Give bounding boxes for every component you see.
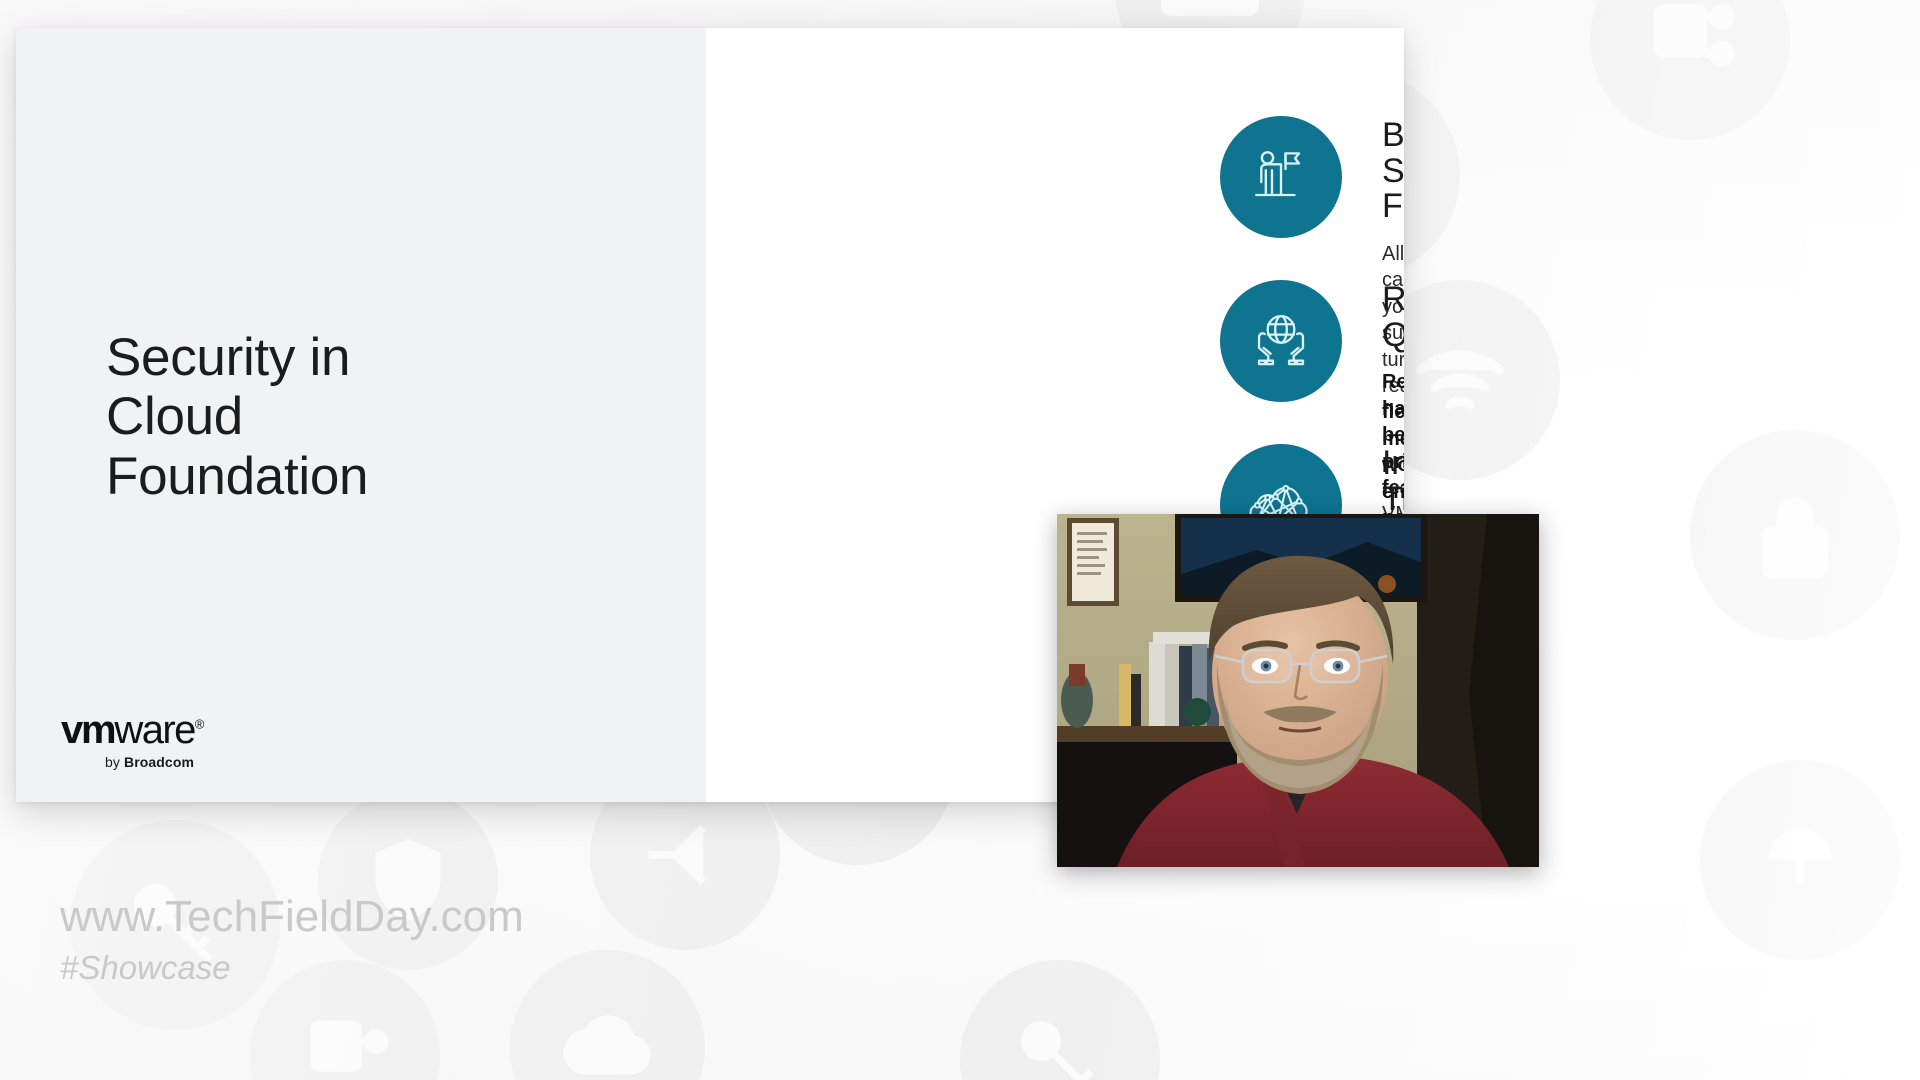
hands-holding-globe-icon — [1244, 304, 1318, 378]
watermark-circle-chip-top — [1590, 0, 1790, 140]
lock-icon — [1736, 476, 1854, 594]
presenter-webcam-video[interactable] — [1057, 514, 1539, 867]
vmware-byline-brand: Broadcom — [124, 754, 194, 770]
watermark-circle-fingerprint-right — [1700, 760, 1900, 960]
registered-trademark-icon: ® — [195, 717, 205, 732]
cloud-icon — [553, 993, 663, 1080]
watermark-circle-key-bottom-right — [960, 960, 1160, 1080]
vmware-byline-prefix: by — [105, 754, 124, 770]
feature-icon-circle — [1220, 116, 1342, 238]
vmware-wordmark-light: ware — [114, 708, 194, 752]
key-icon — [1003, 1003, 1117, 1080]
vmware-byline: by Broadcom — [105, 754, 281, 770]
watermark-hashtag: #Showcase — [60, 951, 524, 984]
wifi-icon — [1401, 321, 1519, 439]
screen: www.TechFieldDay.com #Showcase Security … — [0, 0, 1920, 1080]
slide-left-panel: Security in Cloud Foundation vmware® by … — [16, 28, 706, 802]
feature-heading: Recover Quickly — [1382, 282, 1404, 353]
person-with-flag-icon — [1245, 141, 1317, 213]
feature-heading: Inherent Trust — [1382, 446, 1404, 517]
slide-title: Security in Cloud Foundation — [106, 328, 368, 506]
presenter-video-frame — [1057, 514, 1539, 867]
vmware-logo: vmware® by Broadcom — [61, 710, 281, 770]
chip-icon — [1635, 0, 1745, 95]
watermark-url: www.TechFieldDay.com — [60, 895, 524, 939]
techfieldday-watermark: www.TechFieldDay.com #Showcase — [60, 895, 524, 984]
feature-heading: Be Secure, Faster — [1382, 118, 1404, 225]
feature-icon-circle — [1220, 280, 1342, 402]
plug-icon — [630, 800, 740, 910]
fingerprint-icon — [1743, 803, 1857, 917]
watermark-circle-lock-right — [1690, 430, 1900, 640]
watermark-circle-cloud-bottom — [510, 950, 705, 1080]
vmware-wordmark: vmware® — [61, 710, 281, 750]
chip-icon — [292, 1002, 398, 1080]
vmware-wordmark-bold: vm — [61, 708, 114, 752]
